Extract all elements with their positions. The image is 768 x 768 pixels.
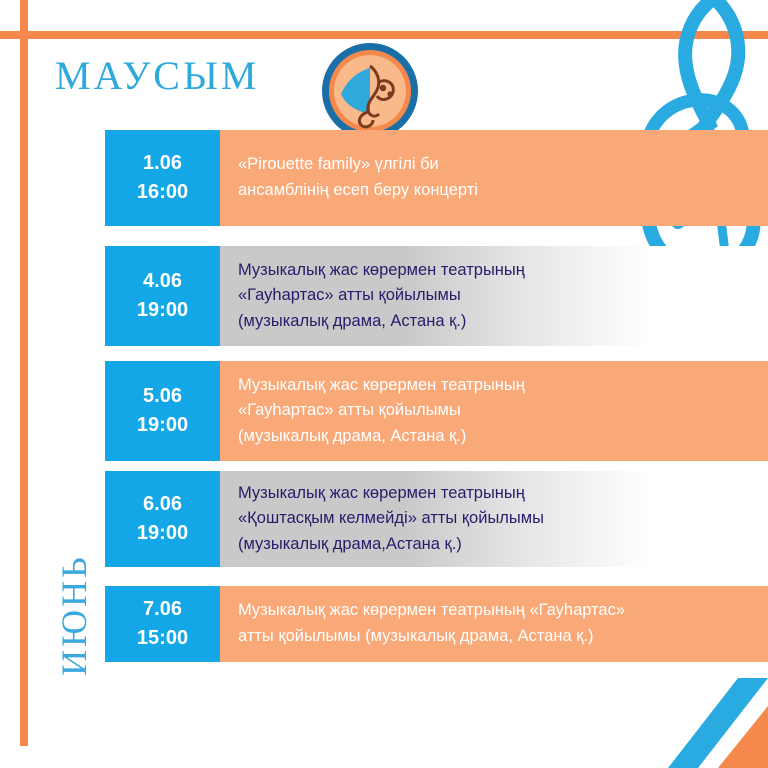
event-description-line: Музыкалық жас көрермен театрының «Гауһар… <box>238 598 625 624</box>
event-description-line: Музыкалық жас көрермен театрының <box>238 258 525 284</box>
event-date: 6.06 <box>143 490 182 519</box>
philharmonic-logo-icon <box>321 42 419 140</box>
event-description-line: Музыкалық жас көрермен театрының <box>238 481 544 507</box>
event-date: 7.06 <box>143 595 182 624</box>
event-description-line: ансамблінің есеп беру концерті <box>238 178 478 204</box>
event-description-line: (музыкалық драма,Астана қ.) <box>238 532 544 558</box>
event-time: 15:00 <box>137 624 188 653</box>
event-row: 4.0619:00Музыкалық жас көрермен театрыны… <box>105 246 768 346</box>
month-label-vertical: ИЮНЬ <box>44 535 104 695</box>
event-description-line: «Гауһартас» атты қойылымы <box>238 398 525 424</box>
event-time: 19:00 <box>137 296 188 325</box>
event-time: 19:00 <box>137 519 188 548</box>
frame-line-horizontal <box>0 31 768 39</box>
event-description-line: «Гауһартас» атты қойылымы <box>238 283 525 309</box>
event-description: Музыкалық жас көрермен театрының«Гауһарт… <box>220 361 539 461</box>
event-description-line: (музыкалық драма, Астана қ.) <box>238 424 525 450</box>
frame-line-vertical <box>20 0 28 746</box>
event-date-block: 6.0619:00 <box>105 471 220 567</box>
page-title: МАУСЫМ <box>55 52 259 99</box>
event-description-line: (музыкалық драма, Астана қ.) <box>238 309 525 335</box>
event-description-line: атты қойылымы (музыкалық драма, Астана қ… <box>238 624 625 650</box>
event-description: Музыкалық жас көрермен театрының «Гауһар… <box>220 586 639 662</box>
poster-canvas: МАУСЫМ ИЮНЬ 1.0616:00«Pirouette family» … <box>0 0 768 768</box>
event-date: 5.06 <box>143 382 182 411</box>
event-description: «Pirouette family» үлгілі биансамблінің … <box>220 130 492 226</box>
event-description: Музыкалық жас көрермен театрының«Гауһарт… <box>220 246 539 346</box>
event-time: 16:00 <box>137 178 188 207</box>
event-date: 4.06 <box>143 267 182 296</box>
corner-stripe-decoration <box>628 648 768 768</box>
event-date-block: 7.0615:00 <box>105 586 220 662</box>
event-row: 5.0619:00Музыкалық жас көрермен театрыны… <box>105 361 768 461</box>
event-date-block: 4.0619:00 <box>105 246 220 346</box>
event-row: 6.0619:00Музыкалық жас көрермен театрыны… <box>105 471 768 567</box>
event-time: 19:00 <box>137 411 188 440</box>
event-row: 1.0616:00«Pirouette family» үлгілі бианс… <box>105 130 768 226</box>
event-row: 7.0615:00Музыкалық жас көрермен театрыны… <box>105 586 768 662</box>
event-date: 1.06 <box>143 149 182 178</box>
event-description-line: Музыкалық жас көрермен театрының <box>238 373 525 399</box>
event-description: Музыкалық жас көрермен театрының«Қоштасқ… <box>220 471 558 567</box>
event-date-block: 1.0616:00 <box>105 130 220 226</box>
event-description-line: «Қоштасқым келмейді» атты қойылымы <box>238 506 544 532</box>
event-description-line: «Pirouette family» үлгілі би <box>238 152 478 178</box>
event-date-block: 5.0619:00 <box>105 361 220 461</box>
